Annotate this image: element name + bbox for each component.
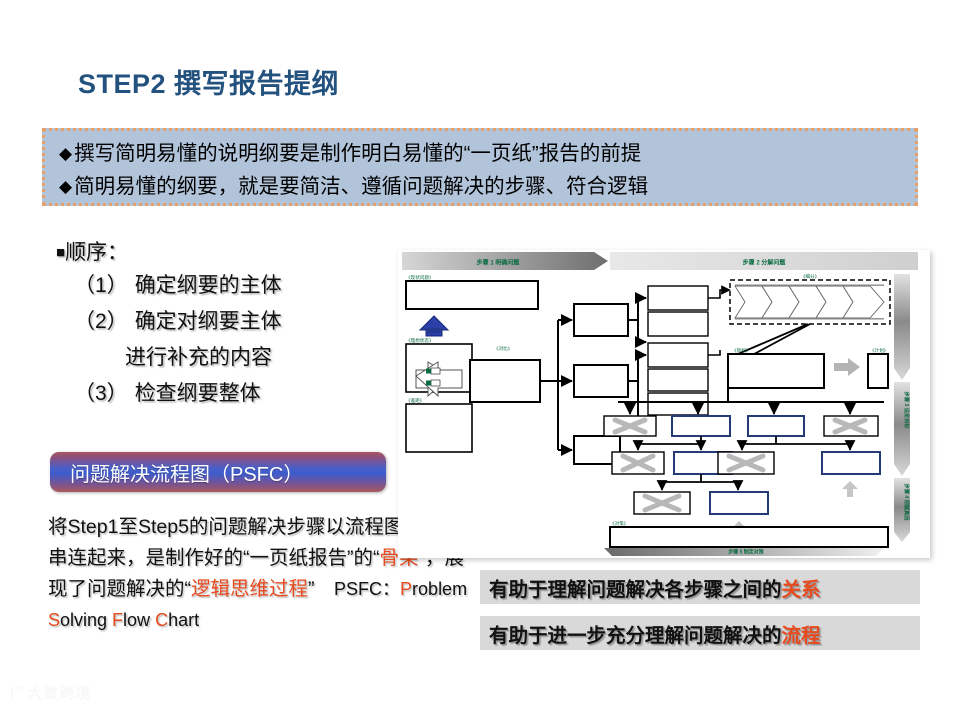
benefit-highlight: 关系 bbox=[782, 579, 821, 601]
list-item: （2）确定对纲要主体 bbox=[56, 304, 386, 340]
list-item-number: （2） bbox=[74, 310, 128, 333]
benefit-plain: 有助于进一步充分理解问题解决的 bbox=[489, 625, 782, 647]
list-item-label: 进行补充的内容 bbox=[125, 346, 272, 369]
paragraph-english: roblem bbox=[412, 579, 467, 599]
list-item-label: 确定对纲要主体 bbox=[135, 310, 282, 333]
svg-text:步骤 2 分解问题: 步骤 2 分解问题 bbox=[743, 259, 787, 267]
paragraph-text: ” bbox=[308, 578, 334, 600]
paragraph-english: low bbox=[123, 610, 155, 630]
paragraph-initial-cap: P bbox=[400, 579, 412, 599]
callout-line-1-text: 简明易懂的纲要，就是要简洁、遵循问题解决的步骤、符合逻辑 bbox=[74, 170, 648, 203]
benefit-bar-text: 有助于进一步充分理解问题解决的流程 bbox=[489, 619, 821, 648]
svg-text:步骤 5 制定对策: 步骤 5 制定对策 bbox=[728, 549, 765, 556]
callout-line-0: ◆ 撰写简明易懂的说明纲要是制作明白易懂的“一页纸”报告的前提 bbox=[59, 137, 901, 170]
svg-text:《理想状态》: 《理想状态》 bbox=[406, 337, 434, 343]
flowchart-svg: 步骤 1 明确问题 步骤 2 分解问题 步骤 3 设定目标 步骤 4 把握真因 … bbox=[398, 250, 930, 558]
page-title: STEP2 撰写报告提纲 bbox=[78, 62, 339, 101]
list-item: （3）检查纲要整体 bbox=[56, 376, 386, 412]
paragraph-english: olving bbox=[60, 610, 112, 630]
svg-text:《对比》: 《对比》 bbox=[494, 345, 512, 352]
svg-text:《计划》: 《计划》 bbox=[870, 347, 888, 354]
svg-text:步骤 3 设定目标: 步骤 3 设定目标 bbox=[903, 392, 911, 430]
paragraph-english: hart bbox=[168, 610, 199, 630]
sequence-heading-text: 顺序： bbox=[65, 241, 128, 264]
svg-text:《差距》: 《差距》 bbox=[406, 397, 424, 403]
callout-box: ◆ 撰写简明易懂的说明纲要是制作明白易懂的“一页纸”报告的前提 ◆ 简明易懂的纲… bbox=[42, 128, 918, 206]
callout-line-1: ◆ 简明易懂的纲要，就是要简洁、遵循问题解决的步骤、符合逻辑 bbox=[59, 170, 901, 203]
list-item-label: 检查纲要整体 bbox=[135, 382, 261, 405]
svg-text:《对策》: 《对策》 bbox=[610, 520, 628, 527]
sequence-heading: ■顺序： bbox=[56, 238, 386, 268]
watermark-text: 大数跨境 bbox=[27, 682, 91, 703]
square-bullet-icon: ■ bbox=[56, 244, 65, 261]
psfc-flowchart-image: 步骤 1 明确问题 步骤 2 分解问题 步骤 3 设定目标 步骤 4 把握真因 … bbox=[398, 250, 930, 558]
svg-text:《现状问题》: 《现状问题》 bbox=[406, 274, 434, 281]
benefit-bar-process: 有助于进一步充分理解问题解决的流程 bbox=[480, 616, 920, 650]
watermark-logo-icon: ι°° bbox=[10, 683, 21, 703]
paragraph-highlight: 逻辑思维过程 bbox=[191, 578, 308, 600]
diamond-bullet-icon: ◆ bbox=[59, 170, 72, 203]
svg-text:步骤 4 把握真因: 步骤 4 把握真因 bbox=[903, 484, 911, 521]
sequence-list: ■顺序： （1）确定纲要的主体 （2）确定对纲要主体 进行补充的内容 （3）检查… bbox=[56, 238, 386, 412]
psfc-banner-label: 问题解决流程图（PSFC） bbox=[50, 458, 303, 487]
benefit-highlight: 流程 bbox=[782, 625, 821, 647]
paragraph-english: PSFC： bbox=[334, 579, 400, 599]
list-item-number: （3） bbox=[74, 382, 128, 405]
paragraph-initial-cap: F bbox=[112, 610, 123, 630]
benefit-bar-text: 有助于理解问题解决各步骤之间的关系 bbox=[489, 573, 821, 602]
benefit-bar-relationship: 有助于理解问题解决各步骤之间的关系 bbox=[480, 570, 920, 604]
psfc-banner: 问题解决流程图（PSFC） bbox=[50, 452, 386, 492]
list-item: （1）确定纲要的主体 bbox=[56, 268, 386, 304]
diamond-bullet-icon: ◆ bbox=[59, 137, 72, 170]
svg-text:步骤 1 明确问题: 步骤 1 明确问题 bbox=[477, 259, 521, 267]
svg-text:《目标》: 《目标》 bbox=[732, 347, 750, 354]
svg-text:《细分》: 《细分》 bbox=[801, 273, 819, 280]
paragraph-initial-cap: C bbox=[155, 610, 168, 630]
watermark: ι°° 大数跨境 bbox=[10, 682, 91, 703]
list-item-label: 确定纲要的主体 bbox=[135, 274, 282, 297]
paragraph-initial-cap: S bbox=[48, 610, 60, 630]
list-item: 进行补充的内容 bbox=[56, 340, 386, 376]
benefit-plain: 有助于理解问题解决各步骤之间的 bbox=[489, 579, 782, 601]
callout-line-0-text: 撰写简明易懂的说明纲要是制作明白易懂的“一页纸”报告的前提 bbox=[74, 137, 641, 170]
list-item-number: （1） bbox=[74, 274, 128, 297]
